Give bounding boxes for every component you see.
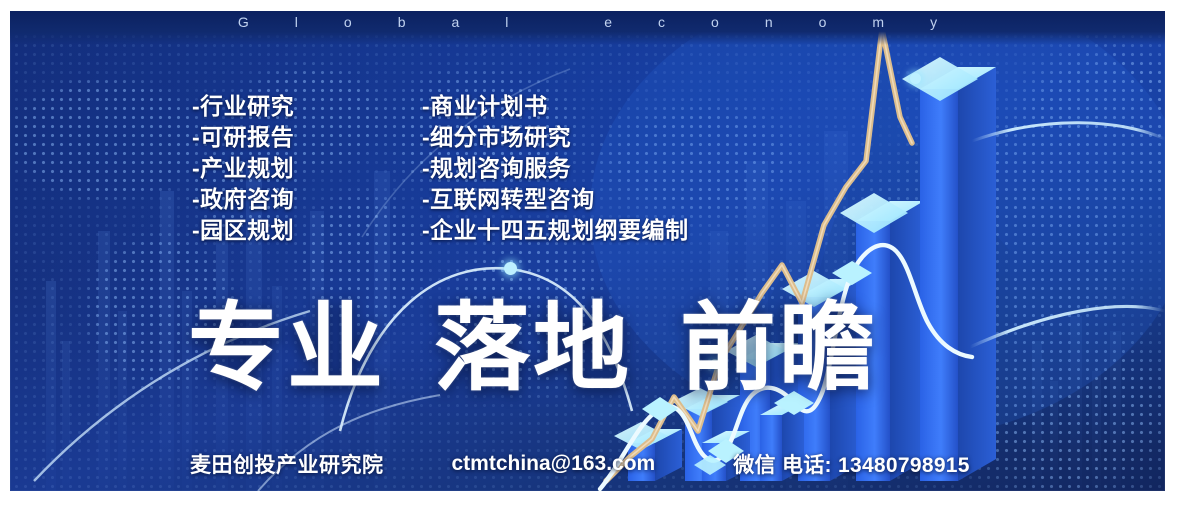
contact-phone: 微信 电话: 13480798915 bbox=[733, 449, 970, 479]
service-item: -商业计划书 bbox=[422, 91, 689, 122]
header-keyword: Global economy bbox=[10, 14, 1165, 30]
glow-node-slogan-arc bbox=[504, 262, 517, 275]
service-item: -企业十四五规划纲要编制 bbox=[422, 215, 689, 246]
service-item: -规划咨询服务 bbox=[422, 153, 689, 184]
slogan-word-2: 落地 bbox=[434, 301, 632, 397]
service-item: -可研报告 bbox=[192, 122, 294, 153]
service-list-left: -行业研究 -可研报告 -产业规划 -政府咨询 -园区规划 bbox=[192, 91, 294, 246]
slogan-word-3: 前瞻 bbox=[680, 301, 878, 397]
promo-artboard: Global economy -行业研究 -可研报告 -产业规划 -政府咨询 -… bbox=[10, 11, 1165, 491]
footer-contact-line: 麦田创投产业研究院 ctmtchina@163.com 微信 电话: 13480… bbox=[190, 449, 970, 479]
email-address[interactable]: ctmtchina@163.com bbox=[452, 452, 656, 476]
glow-node-bar-top bbox=[910, 73, 921, 84]
service-item: -园区规划 bbox=[192, 215, 294, 246]
service-list-right: -商业计划书 -细分市场研究 -规划咨询服务 -互联网转型咨询 -企业十四五规划… bbox=[422, 91, 689, 246]
service-item: -互联网转型咨询 bbox=[422, 184, 689, 215]
service-item: -行业研究 bbox=[192, 91, 294, 122]
organization-name: 麦田创投产业研究院 bbox=[190, 449, 384, 479]
service-item: -政府咨询 bbox=[192, 184, 294, 215]
service-item: -细分市场研究 bbox=[422, 122, 689, 153]
chart-artwork bbox=[10, 11, 1165, 491]
slogan-word-1: 专业 bbox=[188, 301, 386, 397]
banner-root: Global economy -行业研究 -可研报告 -产业规划 -政府咨询 -… bbox=[0, 0, 1177, 514]
slogan: 专业 落地 前瞻 bbox=[188, 301, 878, 397]
service-item: -产业规划 bbox=[192, 153, 294, 184]
